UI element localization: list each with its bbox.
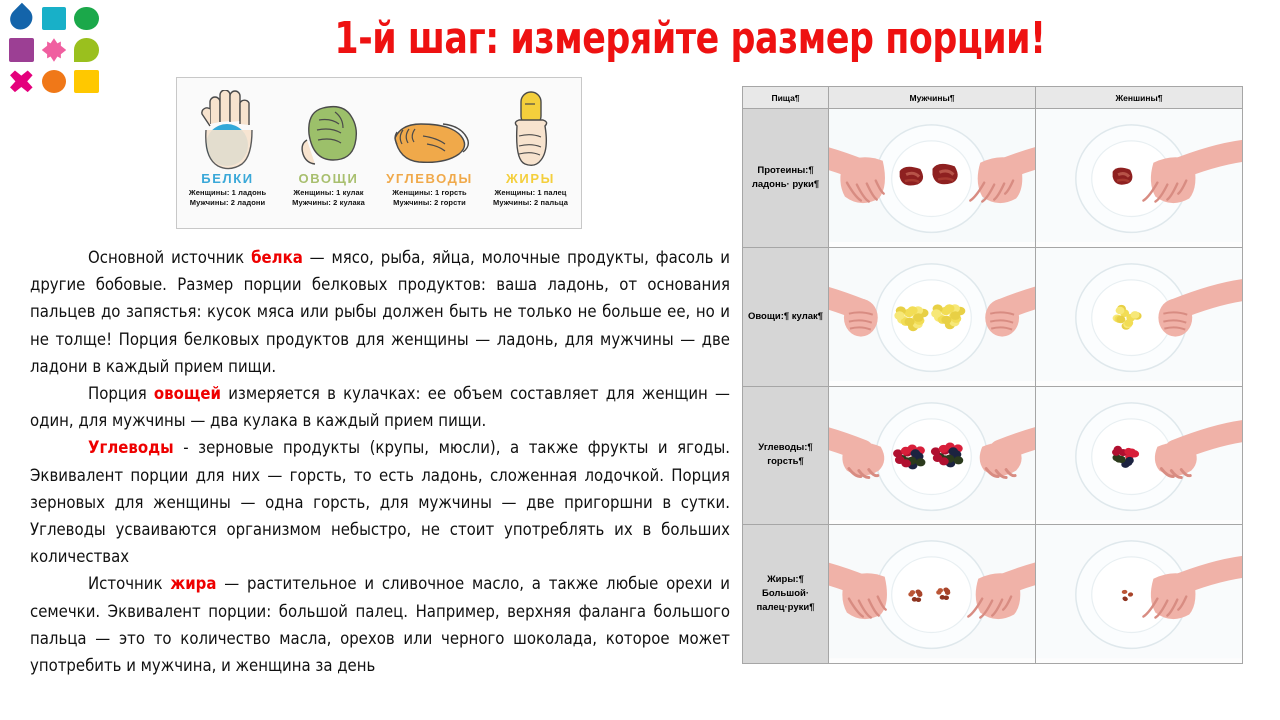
article-text: Источник	[88, 574, 170, 593]
logo-shape-fill	[9, 38, 34, 61]
open-palm-icon	[177, 84, 278, 170]
highlighted-term: Углеводы	[88, 438, 174, 457]
logo-shape-fill	[42, 7, 67, 30]
logo-shape-fill	[42, 70, 67, 93]
brand-logo	[6, 4, 102, 96]
article-text: — мясо, рыба, яйца, молочные продукты, ф…	[30, 248, 730, 376]
portion-photo-two-open-palms-with-two-steak-portions-on-white-plate	[829, 109, 1036, 248]
article-paragraph: Порция овощей измеряется в кулачках: ее …	[30, 380, 730, 434]
portion-photo-two-fists-with-two-portions-of-yellow-cauliflower-on-white-plate	[829, 247, 1036, 386]
infographic-women-protein: Женщины: 1 ладонь	[189, 188, 266, 197]
logo-shape-fill	[9, 70, 34, 93]
table-header-food: Пища¶	[743, 87, 829, 109]
fist-icon	[278, 84, 379, 170]
table-row: Овощи:¶ кулак¶	[743, 247, 1243, 386]
infographic-women-carbs: Женщины: 1 горсть	[392, 188, 467, 197]
logo-shape-square	[71, 67, 102, 96]
infographic-men-protein: Мужчины: 2 ладони	[190, 198, 266, 207]
portion-photo-one-open-hand-with-single-portion-of-almonds-on-white-plate	[1036, 525, 1243, 664]
portion-photo-one-fist-with-single-portion-of-yellow-cauliflower-on-white-plate	[1036, 247, 1243, 386]
infographic-column-protein: БЕЛКИ Женщины: 1 ладонь Мужчины: 2 ладон…	[177, 78, 278, 228]
infographic-column-vegetables: ОВОЩИ Женщины: 1 кулак Мужчины: 2 кулака	[278, 78, 379, 228]
portion-photo-one-open-palm-with-single-steak-portion-on-white-plate	[1036, 109, 1243, 248]
portion-photo-two-open-hands-with-two-portions-of-almonds-on-white-plate	[829, 525, 1036, 664]
article-text: - зерновые продукты (крупы, мюсли), а та…	[30, 438, 730, 566]
logo-shape-cross	[6, 67, 37, 96]
table-header-men: Мужчины¶	[829, 87, 1036, 109]
logo-shape-circle	[39, 67, 70, 96]
table-row-label: Жиры:¶ Большой· палец·руки¶	[743, 525, 829, 664]
table-row: Жиры:¶ Большой· палец·руки¶	[743, 525, 1243, 664]
table-row-label: Овощи:¶ кулак¶	[743, 247, 829, 386]
infographic-women-vegetables: Женщины: 1 кулак	[293, 188, 363, 197]
table-row-label: Углеводы:¶ горсть¶	[743, 386, 829, 525]
article-paragraph: Источник жира — растительное и сливочное…	[30, 570, 730, 679]
logo-shape-quatre	[39, 35, 70, 64]
logo-shape-fill	[74, 7, 99, 30]
logo-shape-fill	[6, 3, 37, 34]
logo-shape-square	[6, 35, 37, 64]
table-header-women: Женшины¶	[1036, 87, 1243, 109]
table-header-row: Пища¶ Мужчины¶ Женшины¶	[743, 87, 1243, 109]
table-row: Углеводы:¶ горсть¶	[743, 386, 1243, 525]
infographic-women-fats: Женщины: 1 палец	[495, 188, 567, 197]
article-paragraph: Углеводы - зерновые продукты (крупы, мюс…	[30, 434, 730, 570]
table-row-label: Протеины:¶ ладонь· руки¶	[743, 109, 829, 248]
infographic-column-fats: ЖИРЫ Женщины: 1 палец Мужчины: 2 пальца	[480, 78, 581, 228]
portion-photo-one-cupped-hand-with-single-portion-of-mixed-berries-on-white-plate	[1036, 386, 1243, 525]
cupped-hand-icon	[379, 84, 480, 170]
infographic-men-vegetables: Мужчины: 2 кулака	[292, 198, 365, 207]
highlighted-term: овощей	[154, 384, 221, 403]
portion-photo-two-cupped-hands-with-two-portions-of-mixed-berries-on-white-plate	[829, 386, 1036, 525]
article-text: Основной источник	[88, 248, 251, 267]
logo-shape-fill	[42, 38, 67, 61]
infographic-men-carbs: Мужчины: 2 горсти	[393, 198, 466, 207]
logo-shape-fill	[74, 38, 99, 61]
infographic-column-carbs: УГЛЕВОДЫ Женщины: 1 горсть Мужчины: 2 го…	[379, 78, 480, 228]
logo-shape-circle	[71, 4, 102, 33]
table-row: Протеины:¶ ладонь· руки¶	[743, 109, 1243, 248]
page-title: 1-й шаг: измеряйте размер порции!	[180, 14, 1201, 64]
highlighted-term: жира	[170, 574, 216, 593]
article-body: Основной источник белка — мясо, рыба, яй…	[30, 244, 730, 679]
article-paragraph: Основной источник белка — мясо, рыба, яй…	[30, 244, 730, 380]
logo-shape-fill	[74, 70, 99, 93]
highlighted-term: белка	[251, 248, 303, 267]
portion-comparison-table: Пища¶ Мужчины¶ Женшины¶ Протеины:¶ ладон…	[742, 86, 1243, 664]
logo-shape-square	[39, 4, 70, 33]
hand-portion-infographic: БЕЛКИ Женщины: 1 ладонь Мужчины: 2 ладон…	[176, 77, 582, 229]
article-text: Порция	[88, 384, 154, 403]
infographic-men-fats: Мужчины: 2 пальца	[493, 198, 568, 207]
thumb-up-icon	[480, 84, 581, 170]
logo-shape-pac	[71, 35, 102, 64]
logo-shape-heart	[6, 4, 37, 33]
